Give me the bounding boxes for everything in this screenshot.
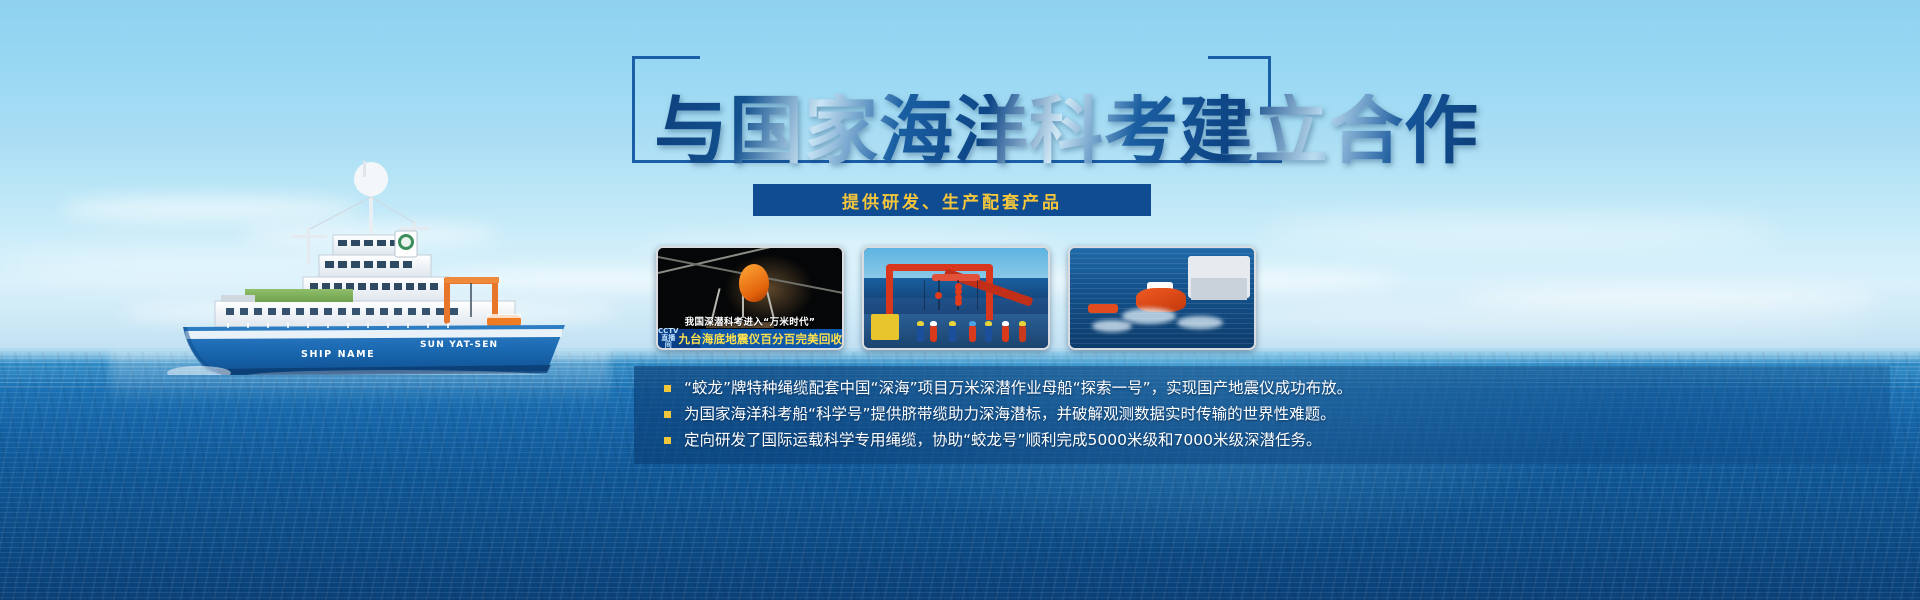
content-column: 与国家海洋科考建立合作 提供研发、生产配套产品 <box>620 0 1920 600</box>
thumbnail-gallery: 我国深潜科考进入“万米时代” CCTV直播间 九台海底地震仪百分百完美回收 <box>656 246 1256 354</box>
bullet-square-icon <box>664 437 671 444</box>
bullet-square-icon <box>664 385 671 392</box>
thumbnail-submersible-recovery[interactable] <box>1068 246 1256 350</box>
page-title: 与国家海洋科考建立合作 <box>654 94 1479 168</box>
feature-bullet-panel: “蛟龙”牌特种绳缆配套中国“深海”项目万米深潜作业母船“探索一号”，实现国产地震… <box>634 366 1890 464</box>
bracket-frame-top-right <box>1208 56 1271 59</box>
bullet-text: “蛟龙”牌特种绳缆配套中国“深海”项目万米深潜作业母船“探索一号”，实现国产地震… <box>684 377 1352 400</box>
thumbnail-deck-crane-operation[interactable] <box>862 246 1050 350</box>
research-vessel: SHIP NAME SUN YAT-SEN <box>95 135 615 375</box>
bracket-frame-top-left <box>632 56 700 59</box>
thumbnail-1-caption-top: 我国深潜科考进入“万米时代” <box>658 314 842 328</box>
thumbnail-1-caption-bottom: 九台海底地震仪百分百完美回收 <box>678 331 842 347</box>
research-vessel-illustration: SHIP NAME SUN YAT-SEN <box>95 135 615 375</box>
ship-side-name: SUN YAT-SEN <box>420 340 498 350</box>
hero-banner: SHIP NAME SUN YAT-SEN 与国家海洋科考建立合作 <box>0 0 1920 600</box>
ship-hull-name: SHIP NAME <box>301 349 375 360</box>
thumbnail-deep-sea-news-clip[interactable]: 我国深潜科考进入“万米时代” CCTV直播间 九台海底地震仪百分百完美回收 <box>656 246 844 350</box>
bullet-text: 定向研发了国际运载科学专用绳缆，协助“蛟龙号”顺利完成5000米级和7000米级… <box>684 429 1321 452</box>
bullet-item: “蛟龙”牌特种绳缆配套中国“深海”项目万米深潜作业母船“探索一号”，实现国产地震… <box>634 375 1890 401</box>
bullet-text: 为国家海洋科考船“科学号”提供脐带缆助力深海潜标，并破解观测数据实时传输的世界性… <box>684 403 1336 426</box>
subtitle-banner-text: 提供研发、生产配套产品 <box>842 188 1062 213</box>
subtitle-banner: 提供研发、生产配套产品 <box>753 184 1151 216</box>
bullet-item: 为国家海洋科考船“科学号”提供脐带缆助力深海潜标，并破解观测数据实时传输的世界性… <box>634 401 1890 427</box>
bullet-square-icon <box>664 411 671 418</box>
thumbnail-1-channel-tag: CCTV直播间 <box>658 328 678 349</box>
bullet-item: 定向研发了国际运载科学专用绳缆，协助“蛟龙号”顺利完成5000米级和7000米级… <box>634 427 1890 453</box>
